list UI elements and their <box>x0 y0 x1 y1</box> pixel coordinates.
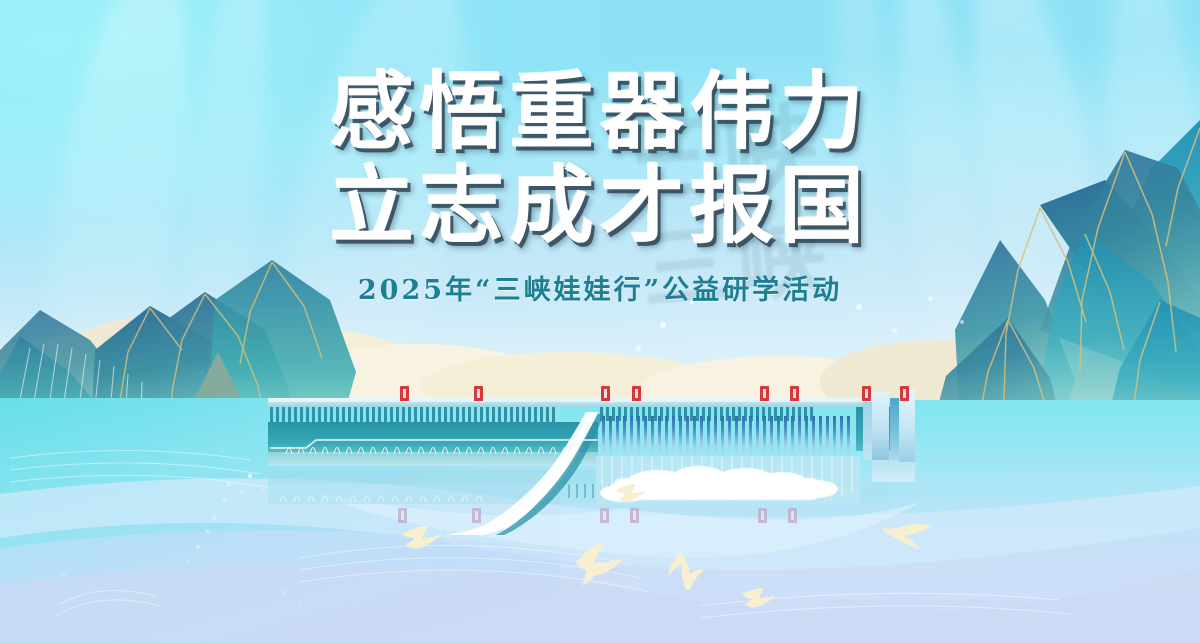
crest-tower-reflection <box>472 508 481 523</box>
poster-banner: 三峡 三峡 <box>0 0 1200 643</box>
crest-tower-reflection <box>630 508 639 523</box>
crest-tower-marker <box>862 386 871 401</box>
title-line-2: 立志成才报国 <box>0 160 1200 252</box>
title-line-1: 感悟重器伟力 <box>0 66 1200 158</box>
crest-tower-marker <box>474 386 483 401</box>
crest-tower-reflection <box>600 508 609 523</box>
spillway-jets <box>600 416 856 460</box>
swallow-bird <box>662 548 716 592</box>
swallow-bird <box>880 520 938 556</box>
dam-arch-hatching-left <box>268 434 598 456</box>
crest-tower-marker <box>632 386 641 401</box>
title-block: 感悟重器伟力 立志成才报国 2025年“三峡娃娃行”公益研学活动 <box>0 66 1200 307</box>
crest-tower-reflection <box>398 508 407 523</box>
crest-tower-reflection <box>758 508 767 523</box>
crest-tower-marker <box>790 386 799 401</box>
spillway-foam <box>792 480 838 498</box>
crest-tower-marker <box>400 386 409 401</box>
swallow-bird <box>740 586 784 618</box>
swallow-bird <box>398 524 448 558</box>
dam-diversion-chute <box>430 410 620 535</box>
crest-tower-marker <box>601 386 610 401</box>
subtitle: 2025年“三峡娃娃行”公益研学活动 <box>0 268 1200 307</box>
dam-crest-left <box>268 398 598 407</box>
crest-tower-reflection <box>788 508 797 523</box>
swallow-bird <box>614 482 654 510</box>
crest-tower-marker <box>900 386 909 401</box>
crest-tower-marker <box>760 386 769 401</box>
swallow-bird <box>572 540 642 588</box>
